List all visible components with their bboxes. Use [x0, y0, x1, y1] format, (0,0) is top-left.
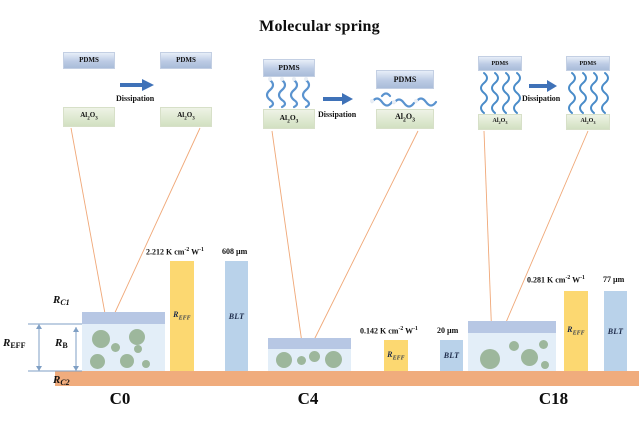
- bar-blt-c0: BLT: [225, 261, 248, 371]
- filler-particle: [480, 349, 500, 369]
- bar-value-blt-c0: 608 µm: [222, 247, 247, 256]
- schematic-c18-after-chains: [566, 71, 610, 115]
- pdms-label: PDMS: [278, 64, 299, 72]
- bar-value-blt-c4: 20 µm: [437, 326, 458, 335]
- filler-particle: [539, 340, 548, 349]
- right-arrow-icon: [323, 92, 355, 106]
- alumina-label: Al2O3: [493, 118, 508, 126]
- schematic-c4-before-pdms-box: PDMS: [263, 59, 315, 77]
- group-label-c18: C18: [506, 389, 601, 409]
- pdms-label: PDMS: [394, 76, 417, 84]
- alumina-label: Al2O3: [280, 114, 299, 125]
- label-r-c1: RC1: [53, 294, 70, 306]
- alumina-label: Al2O3: [395, 113, 415, 124]
- filler-particle: [134, 345, 142, 353]
- dissipation-label-c4: Dissipation: [318, 110, 356, 119]
- schematic-c0-before-alumina-box: Al2O3: [63, 107, 115, 127]
- bar-label-reff: REFF: [173, 310, 191, 322]
- pdms-label: PDMS: [79, 57, 99, 64]
- filler-particle: [297, 356, 306, 365]
- schematic-c0-after-pdms-box: PDMS: [160, 52, 212, 69]
- schematic-c18-before-chains: [478, 71, 522, 115]
- pdms-label: PDMS: [176, 57, 196, 64]
- schematic-c4-before-alumina-box: Al2O3: [263, 109, 315, 129]
- composite-cap-c4: [268, 338, 351, 349]
- right-arrow-icon: [529, 79, 559, 93]
- schematic-c0-after-alumina-box: Al2O3: [160, 107, 212, 127]
- schematic-c18-before-alumina-box: Al2O3: [478, 114, 522, 130]
- bar-value-reff-c18: 0.281 K cm-2 W-1: [527, 275, 585, 285]
- pdms-label: PDMS: [492, 61, 509, 67]
- filler-particle: [509, 341, 519, 351]
- filler-particle: [142, 360, 150, 368]
- group-label-c4: C4: [263, 389, 353, 409]
- composite-block-c18: [468, 321, 556, 371]
- filler-particle: [541, 361, 549, 369]
- pdms-label: PDMS: [580, 61, 597, 67]
- alumina-label: Al2O3: [80, 112, 97, 121]
- bar-blt-c18: BLT: [604, 291, 627, 371]
- schematic-c18-after-pdms-box: PDMS: [566, 56, 610, 71]
- bar-reff-c0: REFF: [170, 261, 194, 371]
- filler-particle: [129, 329, 145, 345]
- dissipation-label-c0: Dissipation: [116, 94, 154, 103]
- bar-label-blt: BLT: [444, 351, 460, 360]
- filler-particle: [521, 349, 538, 366]
- bar-label-blt: BLT: [608, 327, 624, 336]
- page-title: Molecular spring: [0, 18, 639, 36]
- label-r-c2: RC2: [53, 374, 70, 386]
- label-r-eff: REFF: [3, 337, 25, 349]
- label-r-b: RB: [55, 337, 68, 349]
- filler-particle: [325, 351, 342, 368]
- composite-cap-c18: [468, 321, 556, 333]
- filler-particle: [276, 352, 292, 368]
- resistance-annotation-arrows: [20, 300, 120, 410]
- bar-reff-c4: REFF: [384, 340, 408, 371]
- schematic-c4-after-pdms-box: PDMS: [376, 70, 434, 89]
- schematic-c0-before-pdms-box: PDMS: [63, 52, 115, 69]
- bar-label-reff: REFF: [387, 350, 405, 362]
- bar-label-reff: REFF: [567, 325, 585, 337]
- schematic-c18-after-alumina-box: Al2O3: [566, 114, 610, 130]
- composite-block-c4: [268, 338, 351, 371]
- bar-value-reff-c0: 2.212 K cm-2 W-1: [146, 247, 204, 257]
- bar-label-blt: BLT: [229, 312, 245, 321]
- schematic-c4-before-chains: [263, 77, 315, 109]
- alumina-label: Al2O3: [581, 118, 596, 126]
- schematic-c4-after-chains: [368, 90, 444, 110]
- filler-particle: [309, 351, 320, 362]
- bar-reff-c18: REFF: [564, 291, 588, 371]
- schematic-c4-after-alumina-box: Al2O3: [376, 109, 434, 129]
- filler-particle: [120, 354, 134, 368]
- figure-root: Molecular spring PDMS Al2O3 Dissipation …: [0, 0, 639, 433]
- right-arrow-icon: [120, 78, 156, 92]
- bar-value-reff-c4: 0.142 K cm-2 W-1: [360, 326, 418, 336]
- substrate-baseline: [55, 371, 639, 386]
- schematic-c18-before-pdms-box: PDMS: [478, 56, 522, 71]
- alumina-label: Al2O3: [177, 112, 194, 121]
- dissipation-label-c18: Dissipation: [522, 94, 560, 103]
- bar-value-blt-c18: 77 µm: [603, 275, 624, 284]
- bar-blt-c4: BLT: [440, 340, 463, 371]
